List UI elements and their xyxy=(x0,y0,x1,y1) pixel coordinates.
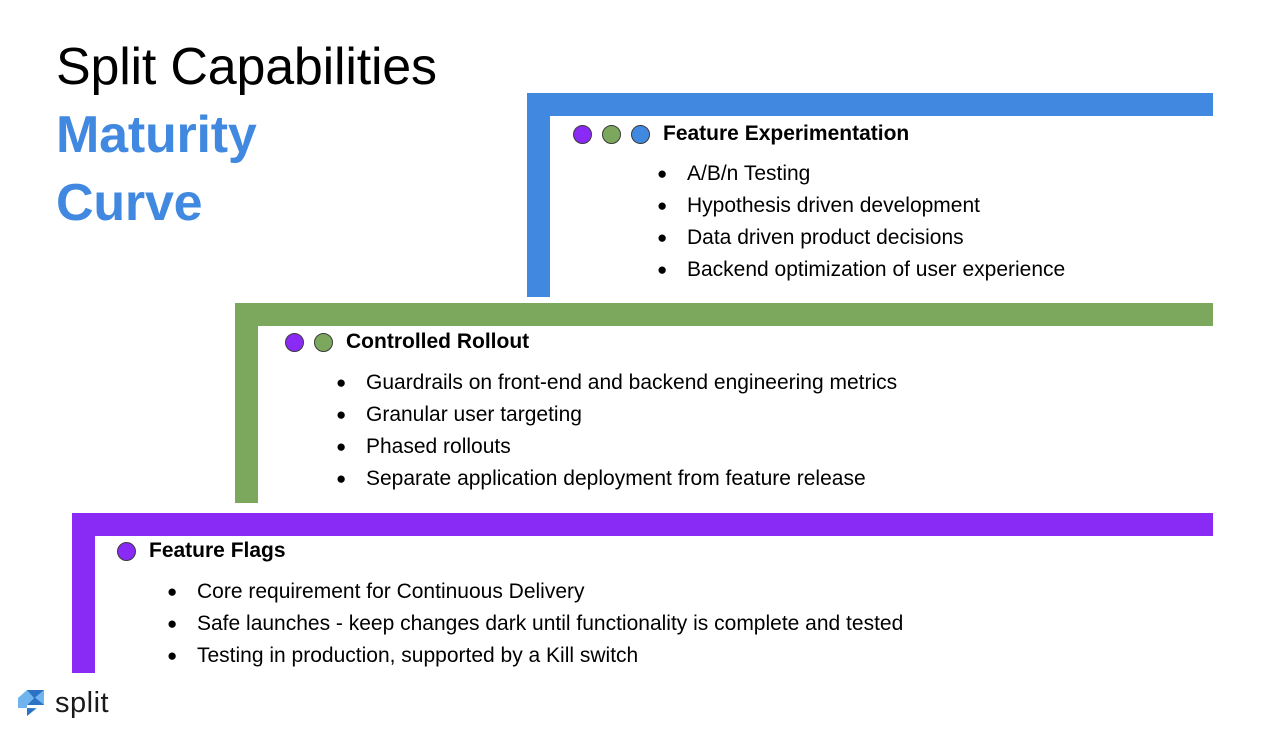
bullet-icon: ● xyxy=(336,431,344,463)
tier-header: Feature Flags xyxy=(117,538,903,564)
list-item: ● Safe launches - keep changes dark unti… xyxy=(167,608,903,640)
bullet-icon: ● xyxy=(167,640,175,672)
slide-canvas: Split Capabilities Maturity Curve Featur… xyxy=(0,0,1262,735)
tier-bullet-list: ● Core requirement for Continuous Delive… xyxy=(167,576,903,672)
list-item-label: Guardrails on front-end and backend engi… xyxy=(336,367,897,399)
list-item: ● Separate application deployment from f… xyxy=(336,463,897,495)
list-item: ● Hypothesis driven development xyxy=(657,190,1065,222)
bullet-icon: ● xyxy=(657,254,665,286)
slide-title: Split Capabilities Maturity Curve xyxy=(56,33,516,237)
tier-header: Controlled Rollout xyxy=(285,329,897,355)
list-item: ● Phased rollouts xyxy=(336,431,897,463)
list-item-label: A/B/n Testing xyxy=(657,158,810,190)
tier-heading: Feature Flags xyxy=(149,538,286,564)
tier-controlled-rollout: Controlled Rollout ● Guardrails on front… xyxy=(235,303,1213,503)
list-item-label: Hypothesis driven development xyxy=(657,190,980,222)
list-item-label: Separate application deployment from fea… xyxy=(336,463,866,495)
list-item: ● Guardrails on front-end and backend en… xyxy=(336,367,897,399)
bullet-icon: ● xyxy=(167,608,175,640)
tier-heading: Controlled Rollout xyxy=(346,329,529,355)
list-item: ● Core requirement for Continuous Delive… xyxy=(167,576,903,608)
bullet-icon: ● xyxy=(657,190,665,222)
bullet-icon: ● xyxy=(336,463,344,495)
list-item-label: Testing in production, supported by a Ki… xyxy=(167,640,638,672)
bullet-icon: ● xyxy=(167,576,175,608)
maturity-dot-purple-icon xyxy=(285,333,304,352)
tier-content: Controlled Rollout ● Guardrails on front… xyxy=(285,329,897,495)
title-line-primary: Split Capabilities xyxy=(56,33,516,101)
list-item: ● Backend optimization of user experienc… xyxy=(657,254,1065,286)
bullet-icon: ● xyxy=(336,399,344,431)
list-item-label: Safe launches - keep changes dark until … xyxy=(167,608,903,640)
tier-frame-top-bar xyxy=(527,93,1213,116)
tier-content: Feature Flags ● Core requirement for Con… xyxy=(117,538,903,672)
maturity-dot-green-icon xyxy=(314,333,333,352)
tier-frame-left-bar xyxy=(235,303,258,503)
tier-frame-top-bar xyxy=(235,303,1213,326)
list-item: ● Testing in production, supported by a … xyxy=(167,640,903,672)
bullet-icon: ● xyxy=(336,367,344,399)
list-item-label: Data driven product decisions xyxy=(657,222,964,254)
tier-bullet-list: ● A/B/n Testing ● Hypothesis driven deve… xyxy=(657,158,1065,286)
tier-frame-top-bar xyxy=(72,513,1213,536)
tier-frame-left-bar xyxy=(72,513,95,673)
maturity-dot-blue-icon xyxy=(631,125,650,144)
tier-feature-experimentation: Feature Experimentation ● A/B/n Testing … xyxy=(527,93,1213,297)
tier-feature-flags: Feature Flags ● Core requirement for Con… xyxy=(72,513,1213,673)
split-wordmark: split xyxy=(55,688,109,718)
tier-content: Feature Experimentation ● A/B/n Testing … xyxy=(573,121,1065,286)
tier-bullet-list: ● Guardrails on front-end and backend en… xyxy=(336,367,897,495)
list-item-label: Phased rollouts xyxy=(336,431,511,463)
title-line-accent-1: Maturity xyxy=(56,101,516,169)
list-item-label: Core requirement for Continuous Delivery xyxy=(167,576,585,608)
list-item: ● Granular user targeting xyxy=(336,399,897,431)
list-item-label: Granular user targeting xyxy=(336,399,582,431)
bullet-icon: ● xyxy=(657,222,665,254)
split-logo-icon xyxy=(14,687,48,719)
maturity-dot-green-icon xyxy=(602,125,621,144)
title-line-accent-2: Curve xyxy=(56,169,516,237)
tier-header: Feature Experimentation xyxy=(573,121,1065,147)
tier-frame-left-bar xyxy=(527,93,550,297)
tier-heading: Feature Experimentation xyxy=(663,121,909,147)
list-item: ● Data driven product decisions xyxy=(657,222,1065,254)
list-item-label: Backend optimization of user experience xyxy=(657,254,1065,286)
list-item: ● A/B/n Testing xyxy=(657,158,1065,190)
bullet-icon: ● xyxy=(657,158,665,190)
maturity-dot-purple-icon xyxy=(573,125,592,144)
split-logo: split xyxy=(14,687,109,719)
maturity-dot-purple-icon xyxy=(117,542,136,561)
